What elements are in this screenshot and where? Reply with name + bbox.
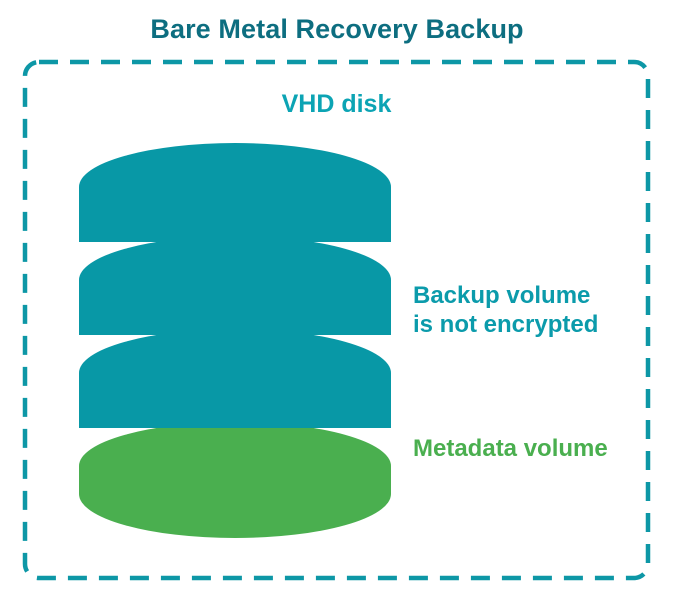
annotation-backup-volume: Backup volume is not encrypted (413, 281, 598, 339)
cylinder-shape (74, 138, 396, 542)
page-title: Bare Metal Recovery Backup (0, 12, 674, 46)
vhd-disk-cylinder (74, 138, 396, 542)
annotation-metadata-volume: Metadata volume (413, 434, 608, 463)
vhd-disk-label: VHD disk (23, 88, 650, 120)
cylinder-segment-metadata (79, 422, 391, 538)
diagram-canvas: Bare Metal Recovery Backup VHD disk (0, 0, 674, 605)
